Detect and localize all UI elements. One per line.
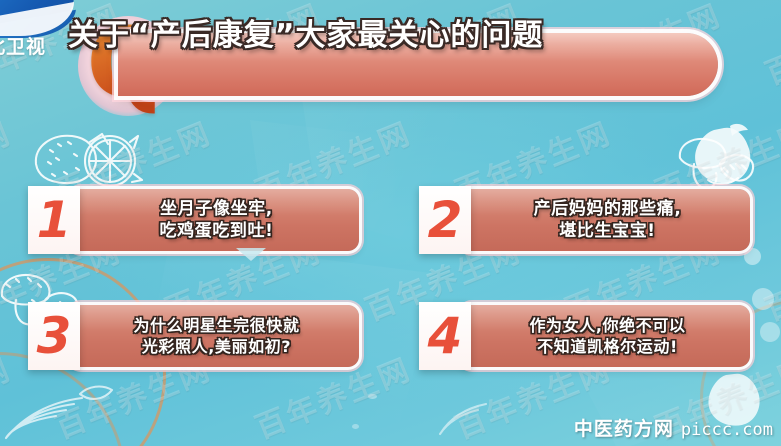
- decorative-dot: [368, 394, 377, 399]
- question-card[interactable]: 产后妈妈的那些痛, 堪比生宝宝! 2: [409, 189, 750, 251]
- card-line: 产后妈妈的那些痛,: [534, 198, 682, 220]
- card-number: 4: [419, 302, 471, 370]
- station-logo-mark: [0, 0, 74, 36]
- site-watermark-en: piccc.com: [681, 420, 773, 440]
- watermark-text: 百年养生网: [0, 345, 17, 446]
- card-number-badge: 4: [419, 302, 471, 370]
- slide-canvas: 百年养生网百年养生网百年养生网百年养生网百年养生网百年养生网百年养生网百年养生网…: [0, 0, 781, 446]
- card-number: 2: [419, 186, 471, 254]
- leaf-sprig-icon: [4, 372, 124, 442]
- site-watermark: 中医药方网 piccc.com: [574, 414, 773, 441]
- card-text: 为什么明星生完很快就 光彩照人,美丽如初?: [84, 305, 349, 367]
- page-title: 关于“产后康复”大家最关心的问题: [68, 0, 767, 63]
- card-line: 吃鸡蛋吃到吐!: [160, 220, 274, 242]
- question-card[interactable]: 坐月子像坐牢, 吃鸡蛋吃到吐! 1: [18, 189, 359, 251]
- card-text: 产后妈妈的那些痛, 堪比生宝宝!: [475, 189, 740, 251]
- card-text: 作为女人,你绝不可以 不知道凯格尔运动!: [475, 305, 740, 367]
- decorative-dot: [760, 322, 780, 342]
- card-line: 为什么明星生完很快就: [133, 315, 299, 336]
- lemon-slice-icon: [30, 128, 150, 190]
- card-text: 坐月子像坐牢, 吃鸡蛋吃到吐!: [84, 189, 349, 251]
- leaf-sprig-icon: [436, 398, 492, 438]
- card-line: 不知道凯格尔运动!: [537, 336, 678, 357]
- watermark-text: 百年养生网: [758, 227, 781, 330]
- question-card[interactable]: 为什么明星生完很快就 光彩照人,美丽如初? 3: [18, 305, 359, 367]
- mushroom-icon: [672, 134, 760, 192]
- card-number-badge: 2: [419, 186, 471, 254]
- card-number: 3: [28, 302, 80, 370]
- card-number-badge: 3: [28, 302, 80, 370]
- station-logo-label: 北卫视: [0, 32, 46, 59]
- question-card[interactable]: 作为女人,你绝不可以 不知道凯格尔运动! 4: [409, 305, 750, 367]
- card-line: 作为女人,你绝不可以: [529, 315, 685, 336]
- card-number: 1: [28, 186, 80, 254]
- watermark-text: 百年养生网: [0, 109, 17, 212]
- card-number-badge: 1: [28, 186, 80, 254]
- garlic-icon: [686, 122, 764, 188]
- decorative-dot: [752, 288, 774, 310]
- card-line: 光彩照人,美丽如初?: [142, 336, 291, 357]
- card-line: 坐月子像坐牢,: [160, 198, 273, 220]
- decorative-dot: [352, 424, 359, 429]
- card-line: 堪比生宝宝!: [559, 220, 655, 242]
- site-watermark-cn: 中医药方网: [574, 414, 674, 441]
